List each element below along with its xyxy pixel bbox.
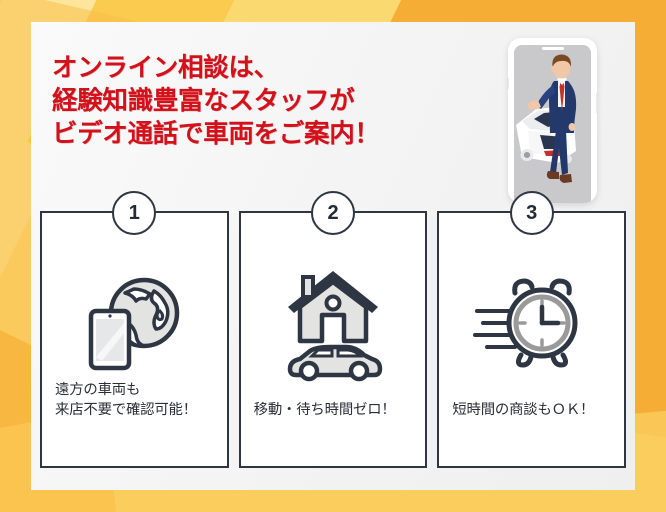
headline-line-1: オンライン相談は、 — [52, 52, 380, 85]
promo-banner: オンライン相談は、 経験知識豊富なスタッフが ビデオ通話で車両をご案内！ — [0, 0, 666, 512]
card-number-badge: 3 — [510, 191, 554, 235]
feature-card-2[interactable]: 2 — [239, 211, 428, 468]
card-caption: 遠方の車両も 来店不要で確認可能！ — [55, 380, 219, 420]
card-icon-area — [42, 255, 227, 390]
car-icon — [290, 347, 380, 379]
card-number-badge: 1 — [112, 191, 156, 235]
card-caption: 移動・待ち時間ゼロ！ — [254, 400, 418, 420]
house-car-icon — [280, 263, 386, 383]
card-icon-area — [439, 255, 624, 390]
phone-side-button — [508, 78, 509, 89]
salesperson-with-car-illustration — [514, 45, 591, 203]
headline-line-2: 経験知識豊富なスタッフが — [52, 85, 380, 118]
alarm-clock-speed-icon — [473, 277, 591, 369]
card-number-badge: 2 — [311, 191, 355, 235]
feature-card-3[interactable]: 3 短時間の商談もＯＫ！ — [437, 211, 626, 468]
phone-notch — [542, 47, 564, 50]
content-panel: オンライン相談は、 経験知識豊富なスタッフが ビデオ通話で車両をご案内！ — [31, 22, 635, 490]
card-icon-area — [241, 255, 426, 390]
phone-mockup — [508, 38, 597, 203]
headline-line-3: ビデオ通話で車両をご案内！ — [52, 118, 380, 151]
phone-side-button — [596, 93, 597, 113]
headline: オンライン相談は、 経験知識豊富なスタッフが ビデオ通話で車両をご案内！ — [52, 52, 380, 151]
phone-screen — [514, 45, 591, 203]
globe-smartphone-icon — [78, 273, 190, 373]
feature-card-row: 1 遠方の車両も 来店不要で確認可能！ — [40, 211, 626, 468]
feature-card-1[interactable]: 1 遠方の車両も 来店不要で確認可能！ — [40, 211, 229, 468]
house-icon — [288, 271, 378, 341]
card-caption: 短時間の商談もＯＫ！ — [452, 400, 616, 420]
